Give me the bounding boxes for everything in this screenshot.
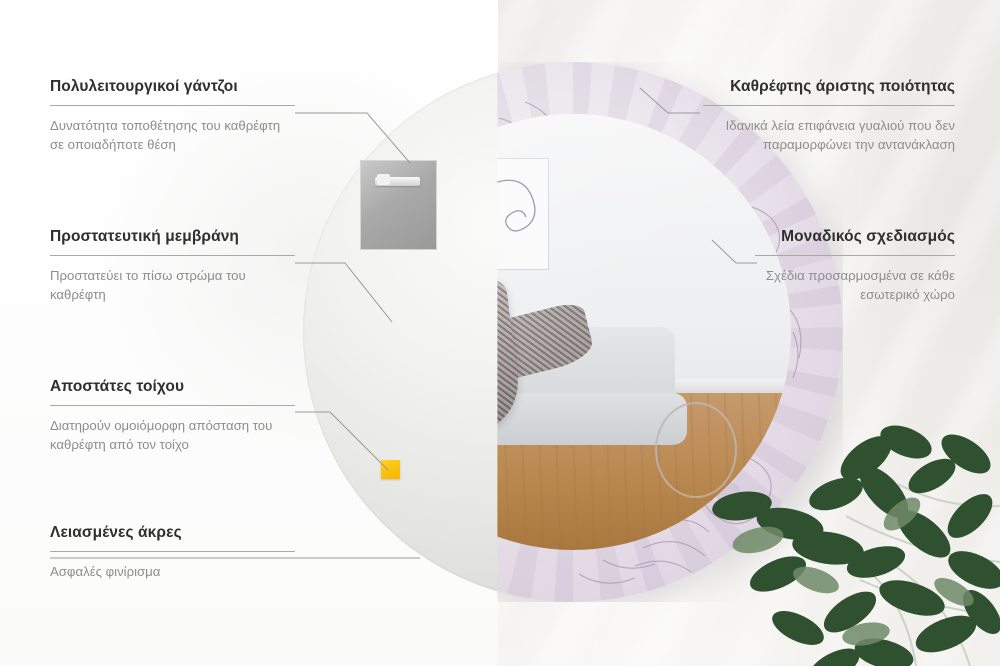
feature-title: Πολυλειτουργικοί γάντζοι <box>50 78 295 96</box>
feature-title: Αποστάτες τοίχου <box>50 378 295 396</box>
feature-rule <box>50 551 295 552</box>
feature-block-unique-design: Μοναδικός σχεδιασμός Σχέδια προσαρμοσμέν… <box>755 228 955 304</box>
feature-title: Προστατευτική μεμβράνη <box>50 228 295 246</box>
feature-description: Διατηρούν ομοιόμορφη απόσταση του καθρέφ… <box>50 417 295 454</box>
feature-rule <box>50 405 295 406</box>
feature-block-multifunctional-hooks: Πολυλειτουργικοί γάντζοι Δυνατότητα τοπο… <box>50 78 295 154</box>
foliage-decoration <box>670 366 1000 666</box>
feature-description: Ιδανικά λεία επιφάνεια γυαλιού που δεν π… <box>703 117 955 154</box>
feature-description: Δυνατότητα τοποθέτησης του καθρέφτη σε ο… <box>50 117 295 154</box>
feature-description: Προστατεύει το πίσω στρώμα του καθρέφτη <box>50 267 295 304</box>
feature-rule <box>703 105 955 106</box>
feature-block-protective-membrane: Προστατευτική μεμβράνη Προστατεύει το πί… <box>50 228 295 304</box>
feature-rule <box>50 255 295 256</box>
hanging-hook-bracket <box>360 160 437 250</box>
feature-title: Μοναδικός σχεδιασμός <box>755 228 955 246</box>
feature-description: Ασφαλές φινίρισμα <box>50 563 295 582</box>
wall-spacer-chip <box>381 460 400 479</box>
feature-title: Λειασμένες άκρες <box>50 524 295 542</box>
feature-title: Καθρέφτης άριστης ποιότητας <box>703 78 955 96</box>
feature-block-wall-spacers: Αποστάτες τοίχου Διατηρούν ομοιόμορφη απ… <box>50 378 295 454</box>
feature-rule <box>755 255 955 256</box>
hook-detail <box>375 177 420 186</box>
feature-block-smoothed-edges: Λειασμένες άκρες Ασφαλές φινίρισμα <box>50 524 295 582</box>
product-infographic: Πολυλειτουργικοί γάντζοι Δυνατότητα τοπο… <box>0 0 1000 666</box>
feature-description: Σχέδια προσαρμοσμένα σε κάθε εσωτερικό χ… <box>755 267 955 304</box>
feature-rule <box>50 105 295 106</box>
feature-block-top-quality-mirror: Καθρέφτης άριστης ποιότητας Ιδανικά λεία… <box>703 78 955 154</box>
